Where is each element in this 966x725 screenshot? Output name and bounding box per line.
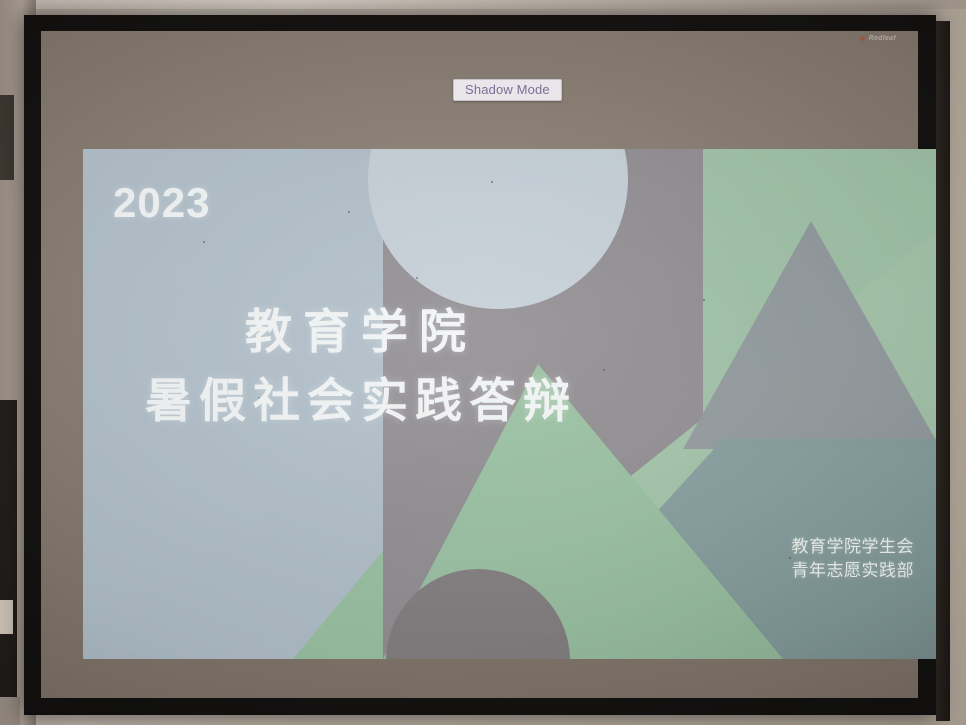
slide-year: 2023: [113, 179, 210, 227]
wall-left-fixture-lower: [0, 400, 17, 725]
slide-org-line-2: 青年志愿实践部: [792, 559, 915, 584]
slide-organization: 教育学院学生会 青年志愿实践部: [792, 535, 915, 584]
projected-slide: 2023 教育学院 暑假社会实践答辩 教育学院学生会 青年志愿实践部: [83, 149, 941, 659]
brand-dot-icon: [860, 36, 865, 41]
dust-speck: [416, 277, 418, 279]
wall-notch-lower: [0, 697, 20, 725]
blackboard-frame: Redleaf: [24, 15, 936, 715]
slide-title-line-1: 教育学院: [101, 304, 621, 359]
slide-title-line-2: 暑假社会实践答辩: [101, 369, 621, 432]
brand-name-label: Redleaf: [869, 35, 896, 42]
dust-speck: [491, 181, 493, 183]
classroom-photo-scene: Redleaf: [0, 0, 966, 725]
projection-board-surface: Redleaf: [41, 31, 918, 698]
ceiling-strip: [0, 0, 966, 9]
slide-org-line-1: 教育学院学生会: [792, 535, 915, 560]
dust-speck: [203, 241, 205, 243]
dust-speck: [348, 211, 350, 213]
dust-speck: [703, 299, 705, 301]
shadow-mode-badge[interactable]: Shadow Mode: [453, 79, 562, 101]
board-brand-logo: Redleaf: [860, 35, 896, 42]
slide-title: 教育学院 暑假社会实践答辩: [101, 304, 621, 433]
wall-left-fixture-upper: [0, 95, 14, 180]
wall-notch-upper: [0, 600, 13, 634]
